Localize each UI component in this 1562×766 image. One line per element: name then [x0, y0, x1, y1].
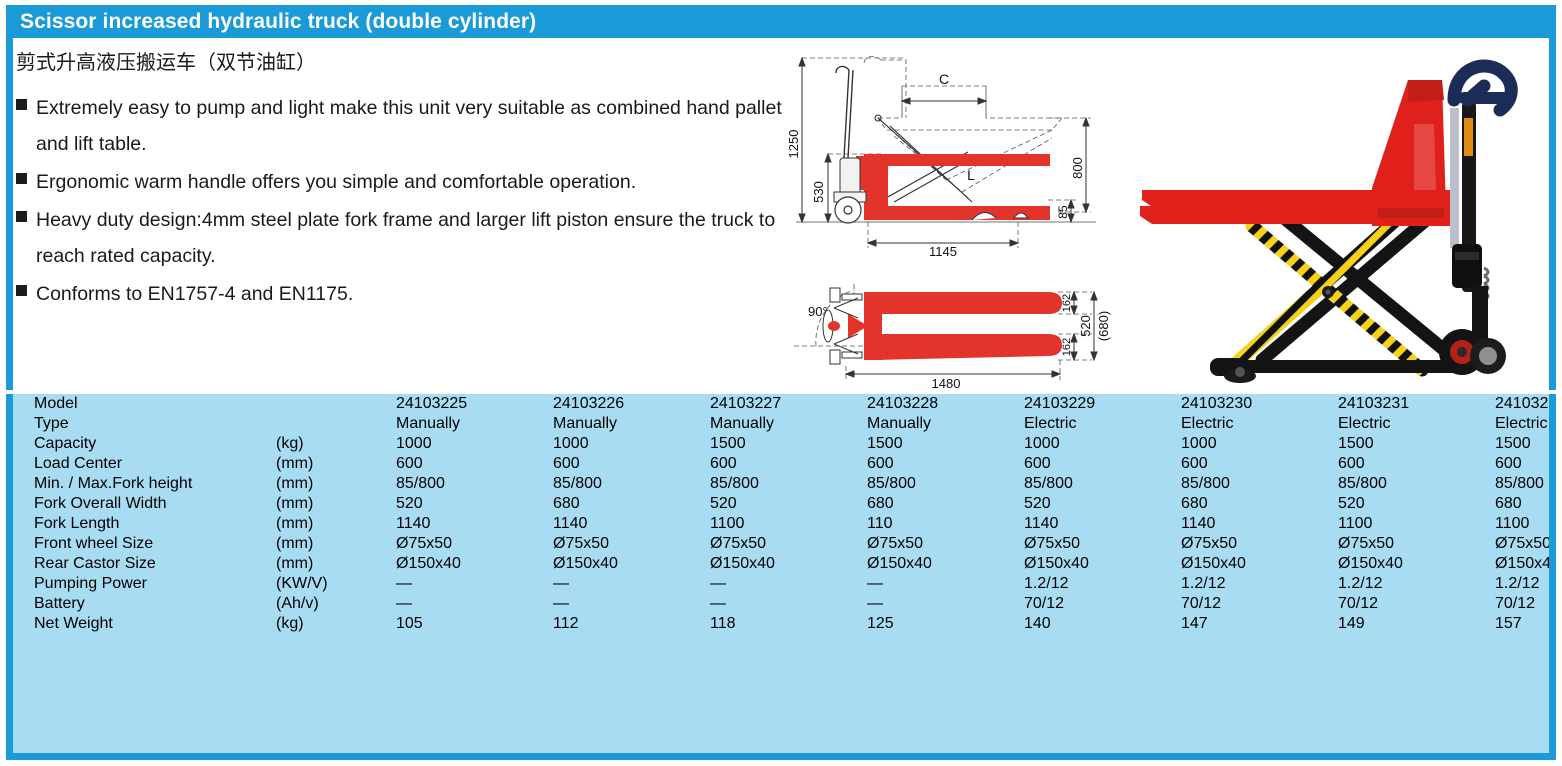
list-item: Extremely easy to pump and light make th…: [16, 90, 786, 162]
row-label: Type: [20, 414, 275, 434]
cell: 600: [709, 454, 866, 474]
list-item: Ergonomic warm handle offers you simple …: [16, 164, 786, 200]
cell: 520: [709, 494, 866, 514]
product-spec-sheet: Scissor increased hydraulic truck (doubl…: [0, 0, 1562, 766]
feature-text: Extremely easy to pump and light make th…: [36, 90, 786, 162]
cell: Ø150x40: [709, 554, 866, 574]
side-elevation-drawing: 1250 530 1145 C L 800 85: [786, 40, 1126, 265]
feature-text: Heavy duty design:4mm steel plate fork f…: [36, 202, 786, 274]
row-label: Battery: [20, 594, 275, 614]
cell: 520: [395, 494, 552, 514]
cell: 105: [395, 614, 552, 634]
dim-steering-angle: 90°: [808, 304, 828, 319]
cell: 1100: [1494, 514, 1556, 534]
cell: Ø75x50: [552, 534, 709, 554]
cell: 680: [866, 494, 1023, 514]
cell: —: [866, 574, 1023, 594]
cell: —: [395, 594, 552, 614]
cell: Electric: [1180, 414, 1337, 434]
row-unit: (kg): [275, 434, 395, 454]
table-row: Pumping Power (KW/V) — — — — 1.2/12 1.2/…: [20, 574, 1556, 594]
square-bullet-icon: [16, 211, 27, 222]
cell: Electric: [1023, 414, 1180, 434]
table-row: Load Center (mm) 600 600 600 600 600 600…: [20, 454, 1556, 474]
cell: 1140: [1180, 514, 1337, 534]
row-label: Min. / Max.Fork height: [20, 474, 275, 494]
cell: 70/12: [1494, 594, 1556, 614]
cell: Ø75x50: [395, 534, 552, 554]
header-model-3: 24103228: [866, 394, 1023, 414]
header-model-1: 24103226: [552, 394, 709, 414]
cell: 1.2/12: [1180, 574, 1337, 594]
cell: 600: [395, 454, 552, 474]
dim-min-fork-height: 85: [1056, 205, 1070, 219]
cell: 85/800: [1337, 474, 1494, 494]
cell: 520: [1023, 494, 1180, 514]
cell: —: [866, 594, 1023, 614]
table-row: Fork Length (mm) 1140 1140 1100 110 1140…: [20, 514, 1556, 534]
cell: Manually: [709, 414, 866, 434]
cell: Ø75x50: [1023, 534, 1180, 554]
row-label: Load Center: [20, 454, 275, 474]
chinese-product-title: 剪式升高液压搬运车（双节油缸）: [16, 50, 786, 76]
cell: —: [395, 574, 552, 594]
row-unit: (mm): [275, 494, 395, 514]
cell: 157: [1494, 614, 1556, 634]
cell: Manually: [866, 414, 1023, 434]
cell: 70/12: [1180, 594, 1337, 614]
cell: —: [709, 574, 866, 594]
row-unit: (mm): [275, 474, 395, 494]
dim-fork-width-lower: 162: [1061, 338, 1073, 356]
table-row: Fork Overall Width (mm) 520 680 520 680 …: [20, 494, 1556, 514]
cell: 140: [1023, 614, 1180, 634]
dim-overall-width-alt: (680): [1096, 311, 1111, 341]
cell: 85/800: [395, 474, 552, 494]
specification-table-wrapper: Model 24103225 24103226 24103227 2410322…: [6, 394, 1556, 760]
dim-handle-height: 530: [811, 181, 826, 203]
table-row: Min. / Max.Fork height (mm) 85/800 85/80…: [20, 474, 1556, 494]
description-block: 剪式升高液压搬运车（双节油缸） Extremely easy to pump a…: [16, 50, 786, 314]
table-row: Front wheel Size (mm) Ø75x50 Ø75x50 Ø75x…: [20, 534, 1556, 554]
cell: 85/800: [552, 474, 709, 494]
dim-plan-length: 1480: [932, 376, 961, 390]
row-unit: (mm): [275, 454, 395, 474]
cell: 680: [552, 494, 709, 514]
page-title: Scissor increased hydraulic truck (doubl…: [6, 10, 536, 34]
cell: Ø150x40: [1180, 554, 1337, 574]
row-label: Pumping Power: [20, 574, 275, 594]
row-label: Capacity: [20, 434, 275, 454]
cell: 1.2/12: [1023, 574, 1180, 594]
cell: 600: [552, 454, 709, 474]
header-model-label: Model: [20, 394, 275, 414]
dim-overall-height: 1250: [786, 130, 801, 159]
table-row: Type Manually Manually Manually Manually…: [20, 414, 1556, 434]
cell: 149: [1337, 614, 1494, 634]
cell: Ø150x40: [552, 554, 709, 574]
header-model-4: 24103229: [1023, 394, 1180, 414]
cell: 1140: [395, 514, 552, 534]
cell: 125: [866, 614, 1023, 634]
cell: 600: [1494, 454, 1556, 474]
list-item: Heavy duty design:4mm steel plate fork f…: [16, 202, 786, 274]
cell: 680: [1494, 494, 1556, 514]
header-unit-blank: [275, 394, 395, 414]
cell: Ø150x40: [866, 554, 1023, 574]
dim-fork-width-upper: 162: [1061, 294, 1073, 312]
cell: 1100: [709, 514, 866, 534]
cell: 600: [1180, 454, 1337, 474]
cell: Manually: [395, 414, 552, 434]
cell: 1000: [1180, 434, 1337, 454]
row-label: Front wheel Size: [20, 534, 275, 554]
row-unit: (mm): [275, 554, 395, 574]
specification-table: Model 24103225 24103226 24103227 2410322…: [20, 394, 1556, 634]
page-title-bar: Scissor increased hydraulic truck (doubl…: [6, 5, 1556, 38]
dim-overall-width: 520: [1078, 315, 1093, 337]
dim-overall-length: 1145: [929, 244, 957, 259]
cell: Ø150x40: [1494, 554, 1556, 574]
cell: Ø75x50: [709, 534, 866, 554]
table-row: Capacity (kg) 1000 1000 1500 1500 1000 1…: [20, 434, 1556, 454]
cell: 85/800: [1494, 474, 1556, 494]
cell: Ø75x50: [1494, 534, 1556, 554]
product-photo: [1132, 40, 1548, 390]
header-model-5: 24103230: [1180, 394, 1337, 414]
dim-label-c: C: [939, 71, 949, 87]
cell: Electric: [1494, 414, 1556, 434]
cell: 520: [1337, 494, 1494, 514]
cell: 600: [866, 454, 1023, 474]
row-unit: (kg): [275, 614, 395, 634]
plan-view-drawing: 90° 1480 162 162 520 (680): [786, 268, 1126, 390]
frame-rail-left: [6, 38, 13, 390]
row-unit: (Ah/v): [275, 594, 395, 614]
list-item: Conforms to EN1757-4 and EN1175.: [16, 276, 786, 312]
cell: Electric: [1337, 414, 1494, 434]
cell: Manually: [552, 414, 709, 434]
cell: 85/800: [1023, 474, 1180, 494]
cell: 85/800: [866, 474, 1023, 494]
cell: 1500: [709, 434, 866, 454]
cell: —: [709, 594, 866, 614]
header-model-7: 24103232: [1494, 394, 1556, 414]
row-unit: (mm): [275, 514, 395, 534]
cell: —: [552, 594, 709, 614]
cell: Ø150x40: [1337, 554, 1494, 574]
cell: Ø150x40: [1023, 554, 1180, 574]
cell: 1000: [1023, 434, 1180, 454]
cell: 1100: [1337, 514, 1494, 534]
cell: 70/12: [1023, 594, 1180, 614]
table-row: Battery (Ah/v) — — — — 70/12 70/12 70/12…: [20, 594, 1556, 614]
header-model-6: 24103231: [1337, 394, 1494, 414]
dim-max-fork-height: 800: [1070, 157, 1085, 179]
frame-rail-right: [1549, 38, 1556, 390]
dim-label-l: L: [967, 167, 975, 183]
table-row: Net Weight (kg) 105 112 118 125 140 147 …: [20, 614, 1556, 634]
cell: Ø75x50: [866, 534, 1023, 554]
row-label: Rear Castor Size: [20, 554, 275, 574]
cell: 1000: [552, 434, 709, 454]
row-unit: (KW/V): [275, 574, 395, 594]
cell: 600: [1337, 454, 1494, 474]
cell: 1.2/12: [1494, 574, 1556, 594]
cell: 85/800: [709, 474, 866, 494]
feature-text: Conforms to EN1757-4 and EN1175.: [36, 276, 353, 312]
header-model-0: 24103225: [395, 394, 552, 414]
feature-text: Ergonomic warm handle offers you simple …: [36, 164, 636, 200]
cell: 70/12: [1337, 594, 1494, 614]
row-unit: [275, 414, 395, 434]
cell: 1.2/12: [1337, 574, 1494, 594]
row-label: Net Weight: [20, 614, 275, 634]
square-bullet-icon: [16, 285, 27, 296]
cell: Ø75x50: [1180, 534, 1337, 554]
cell: Ø75x50: [1337, 534, 1494, 554]
cell: 85/800: [1180, 474, 1337, 494]
cell: 1500: [1494, 434, 1556, 454]
cell: Ø150x40: [395, 554, 552, 574]
row-label: Fork Overall Width: [20, 494, 275, 514]
square-bullet-icon: [16, 173, 27, 184]
row-unit: (mm): [275, 534, 395, 554]
row-label: Fork Length: [20, 514, 275, 534]
cell: 147: [1180, 614, 1337, 634]
cell: 118: [709, 614, 866, 634]
header-model-2: 24103227: [709, 394, 866, 414]
cell: 1000: [395, 434, 552, 454]
cell: 1500: [1337, 434, 1494, 454]
cell: 1140: [1023, 514, 1180, 534]
cell: 680: [1180, 494, 1337, 514]
table-header-row: Model 24103225 24103226 24103227 2410322…: [20, 394, 1556, 414]
cell: 600: [1023, 454, 1180, 474]
cell: 1500: [866, 434, 1023, 454]
table-row: Rear Castor Size (mm) Ø150x40 Ø150x40 Ø1…: [20, 554, 1556, 574]
cell: 112: [552, 614, 709, 634]
feature-list: Extremely easy to pump and light make th…: [16, 90, 786, 312]
square-bullet-icon: [16, 99, 27, 110]
cell: 110: [866, 514, 1023, 534]
cell: —: [552, 574, 709, 594]
cell: 1140: [552, 514, 709, 534]
